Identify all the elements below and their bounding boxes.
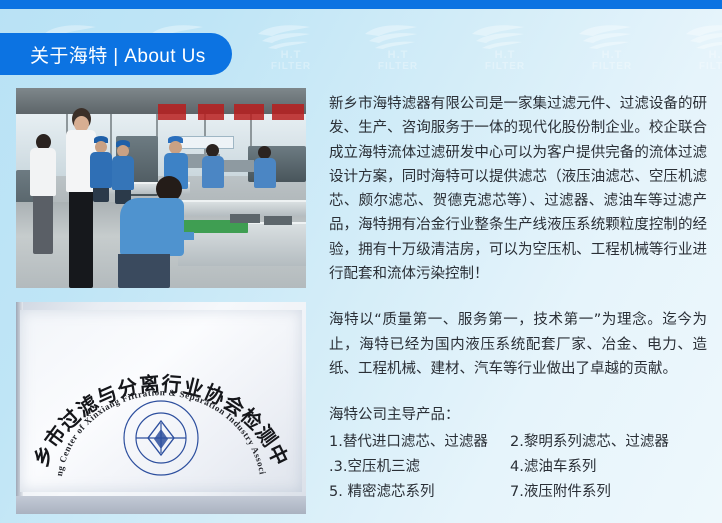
product-item: 2.黎明系列滤芯、过滤器 — [510, 430, 707, 455]
certification-plaque-photo: 新乡市过滤与分离行业协会检测中心 Testing Center of Xinxi… — [16, 302, 306, 514]
product-item: 5. 精密滤芯系列 — [329, 480, 510, 505]
about-paragraph-2: 海特以“质量第一、服务第一，技术第一”为理念。迄今为止，海特已经为国内液压系统配… — [329, 308, 707, 381]
svg-text:FILTER: FILTER — [699, 61, 722, 72]
product-item: 7.液压附件系列 — [510, 480, 707, 505]
about-us-page: H.TFILTERH.TFILTERH.TFILTERH.TFILTERH.TF… — [0, 0, 722, 523]
page-title: 关于海特 | About Us — [30, 41, 206, 68]
ht-filter-watermark-icon: H.TFILTER — [676, 18, 722, 74]
svg-text:FILTER: FILTER — [271, 61, 311, 72]
ht-filter-watermark-icon: H.TFILTER — [355, 18, 441, 74]
about-text-column: 新乡市海特滤器有限公司是一家集过滤元件、过滤设备的研发、生产、咨询服务于一体的现… — [329, 92, 707, 505]
svg-text:FILTER: FILTER — [485, 61, 525, 72]
product-item: .3.空压机三滤 — [329, 455, 510, 480]
association-seal-icon — [122, 399, 200, 477]
svg-text:H.T: H.T — [495, 49, 516, 61]
product-row: .3.空压机三滤 4.滤油车系列 — [329, 455, 707, 480]
product-list-block: 海特公司主导产品： 1.替代进口滤芯、过滤器 2.黎明系列滤芯、过滤器 .3.空… — [329, 403, 707, 504]
about-paragraph-1: 新乡市海特滤器有限公司是一家集过滤元件、过滤设备的研发、生产、咨询服务于一体的现… — [329, 92, 707, 286]
product-row: 5. 精密滤芯系列 7.液压附件系列 — [329, 480, 707, 505]
product-item: 1.替代进口滤芯、过滤器 — [329, 430, 510, 455]
svg-text:H.T: H.T — [388, 49, 409, 61]
svg-text:FILTER: FILTER — [592, 61, 632, 72]
ht-filter-watermark-icon: H.TFILTER — [462, 18, 548, 74]
top-accent-rule — [0, 0, 722, 9]
svg-text:H.T: H.T — [602, 49, 623, 61]
factory-workshop-photo — [16, 88, 306, 288]
product-row: 1.替代进口滤芯、过滤器 2.黎明系列滤芯、过滤器 — [329, 430, 707, 455]
ht-filter-watermark-icon: H.TFILTER — [569, 18, 655, 74]
page-title-pill: 关于海特 | About Us — [0, 33, 232, 75]
svg-text:H.T: H.T — [709, 49, 722, 61]
svg-text:FILTER: FILTER — [378, 61, 418, 72]
product-item: 4.滤油车系列 — [510, 455, 707, 480]
ht-filter-watermark-icon: H.TFILTER — [248, 18, 334, 74]
media-column: 新乡市过滤与分离行业协会检测中心 Testing Center of Xinxi… — [16, 88, 306, 514]
product-list-heading: 海特公司主导产品： — [329, 403, 707, 427]
svg-text:H.T: H.T — [281, 49, 302, 61]
